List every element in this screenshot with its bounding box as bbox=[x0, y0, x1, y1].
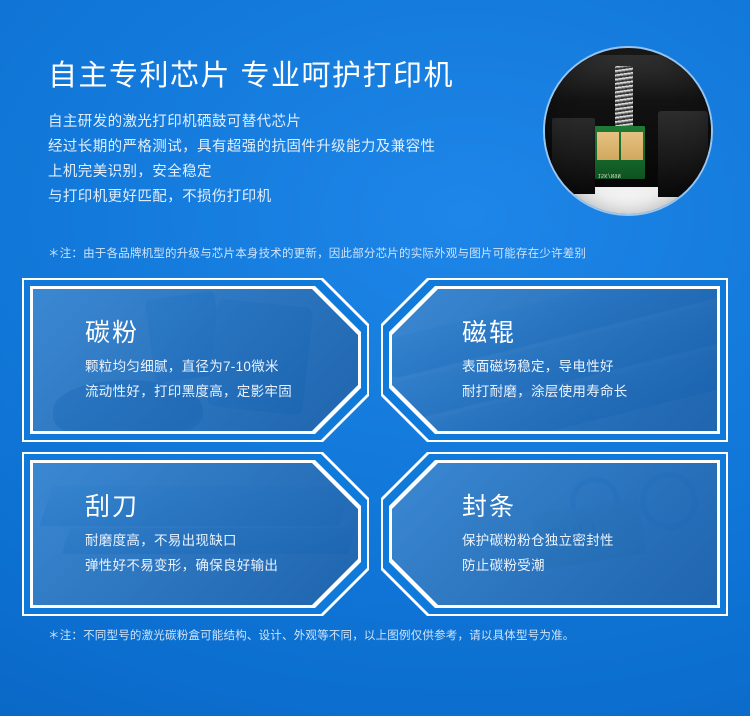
card-panel: 刮刀 耐磨度高，不易出现缺口 弹性好不易变形，确保良好输出 bbox=[33, 463, 358, 605]
chip-pcb: 15K/N9N bbox=[595, 126, 645, 179]
card-line: 流动性好，打印黑度高，定影牢固 bbox=[85, 379, 358, 404]
chip-contact-pad bbox=[597, 132, 619, 160]
feature-card-doctor-blade[interactable]: 刮刀 耐磨度高，不易出现缺口 弹性好不易变形，确保良好输出 bbox=[22, 452, 369, 616]
contact-spring bbox=[615, 66, 633, 129]
chip-board-marking: 15K/N9N bbox=[598, 172, 621, 178]
card-content: 刮刀 耐磨度高，不易出现缺口 弹性好不易变形，确保良好输出 bbox=[33, 463, 358, 605]
chip-contact-pad bbox=[621, 132, 643, 160]
housing-block-left bbox=[552, 118, 595, 194]
hero-line: 上机完美识别，安全稳定 bbox=[48, 160, 518, 185]
card-line: 防止碳粉受潮 bbox=[462, 553, 717, 578]
page-title: 自主专利芯片 专业呵护打印机 bbox=[48, 56, 454, 96]
card-line: 表面磁场稳定，导电性好 bbox=[462, 354, 717, 379]
hero-line: 经过长期的严格测试，具有超强的抗固件升级能力及兼容性 bbox=[48, 135, 518, 160]
card-title: 磁辊 bbox=[462, 316, 717, 350]
card-title: 封条 bbox=[462, 490, 717, 524]
hero-section: 自主专利芯片 专业呵护打印机 自主研发的激光打印机硒鼓可替代芯片 经过长期的严格… bbox=[0, 0, 750, 265]
hero-line: 自主研发的激光打印机硒鼓可替代芯片 bbox=[48, 110, 518, 135]
card-panel: 碳粉 颗粒均匀细腻，直径为7-10微米 流动性好，打印黑度高，定影牢固 bbox=[33, 289, 358, 431]
card-panel: PULL 封条 保护碳粉粉仓独立密封性 防止碳粉受潮 bbox=[392, 463, 717, 605]
housing-block-right bbox=[658, 111, 708, 197]
feature-card-seal[interactable]: PULL 封条 保护碳粉粉仓独立密封性 防止碳粉受潮 bbox=[381, 452, 728, 616]
card-title: 碳粉 bbox=[85, 316, 358, 350]
note-top: ＊注：由于各品牌机型的升级与芯片本身技术的更新，因此部分芯片的实际外观与图片可能… bbox=[48, 246, 586, 262]
hero-line: 与打印机更好匹配，不损伤打印机 bbox=[48, 185, 518, 210]
card-line: 弹性好不易变形，确保良好输出 bbox=[85, 553, 358, 578]
card-line: 耐磨度高，不易出现缺口 bbox=[85, 528, 358, 553]
promo-page: 自主专利芯片 专业呵护打印机 自主研发的激光打印机硒鼓可替代芯片 经过长期的严格… bbox=[0, 0, 750, 716]
chip-photo-scene: 15K/N9N bbox=[545, 48, 711, 214]
card-content: 磁辊 表面磁场稳定，导电性好 耐打耐磨，涂层使用寿命长 bbox=[392, 289, 717, 431]
card-line: 保护碳粉粉仓独立密封性 bbox=[462, 528, 717, 553]
card-content: 碳粉 颗粒均匀细腻，直径为7-10微米 流动性好，打印黑度高，定影牢固 bbox=[33, 289, 358, 431]
card-line: 颗粒均匀细腻，直径为7-10微米 bbox=[85, 354, 358, 379]
note-bottom: ＊注：不同型号的激光碳粉盒可能结构、设计、外观等不同，以上图例仅供参考，请以具体… bbox=[48, 628, 575, 644]
printer-chip-photo: 15K/N9N bbox=[545, 48, 711, 214]
feature-card-magnetic-roller[interactable]: 磁辊 表面磁场稳定，导电性好 耐打耐磨，涂层使用寿命长 bbox=[381, 278, 728, 442]
hero-description: 自主研发的激光打印机硒鼓可替代芯片 经过长期的严格测试，具有超强的抗固件升级能力… bbox=[48, 110, 518, 210]
feature-card-grid: 碳粉 颗粒均匀细腻，直径为7-10微米 流动性好，打印黑度高，定影牢固 bbox=[22, 278, 728, 616]
card-line: 耐打耐磨，涂层使用寿命长 bbox=[462, 379, 717, 404]
card-title: 刮刀 bbox=[85, 490, 358, 524]
feature-card-toner[interactable]: 碳粉 颗粒均匀细腻，直径为7-10微米 流动性好，打印黑度高，定影牢固 bbox=[22, 278, 369, 442]
card-panel: 磁辊 表面磁场稳定，导电性好 耐打耐磨，涂层使用寿命长 bbox=[392, 289, 717, 431]
card-content: 封条 保护碳粉粉仓独立密封性 防止碳粉受潮 bbox=[392, 463, 717, 605]
